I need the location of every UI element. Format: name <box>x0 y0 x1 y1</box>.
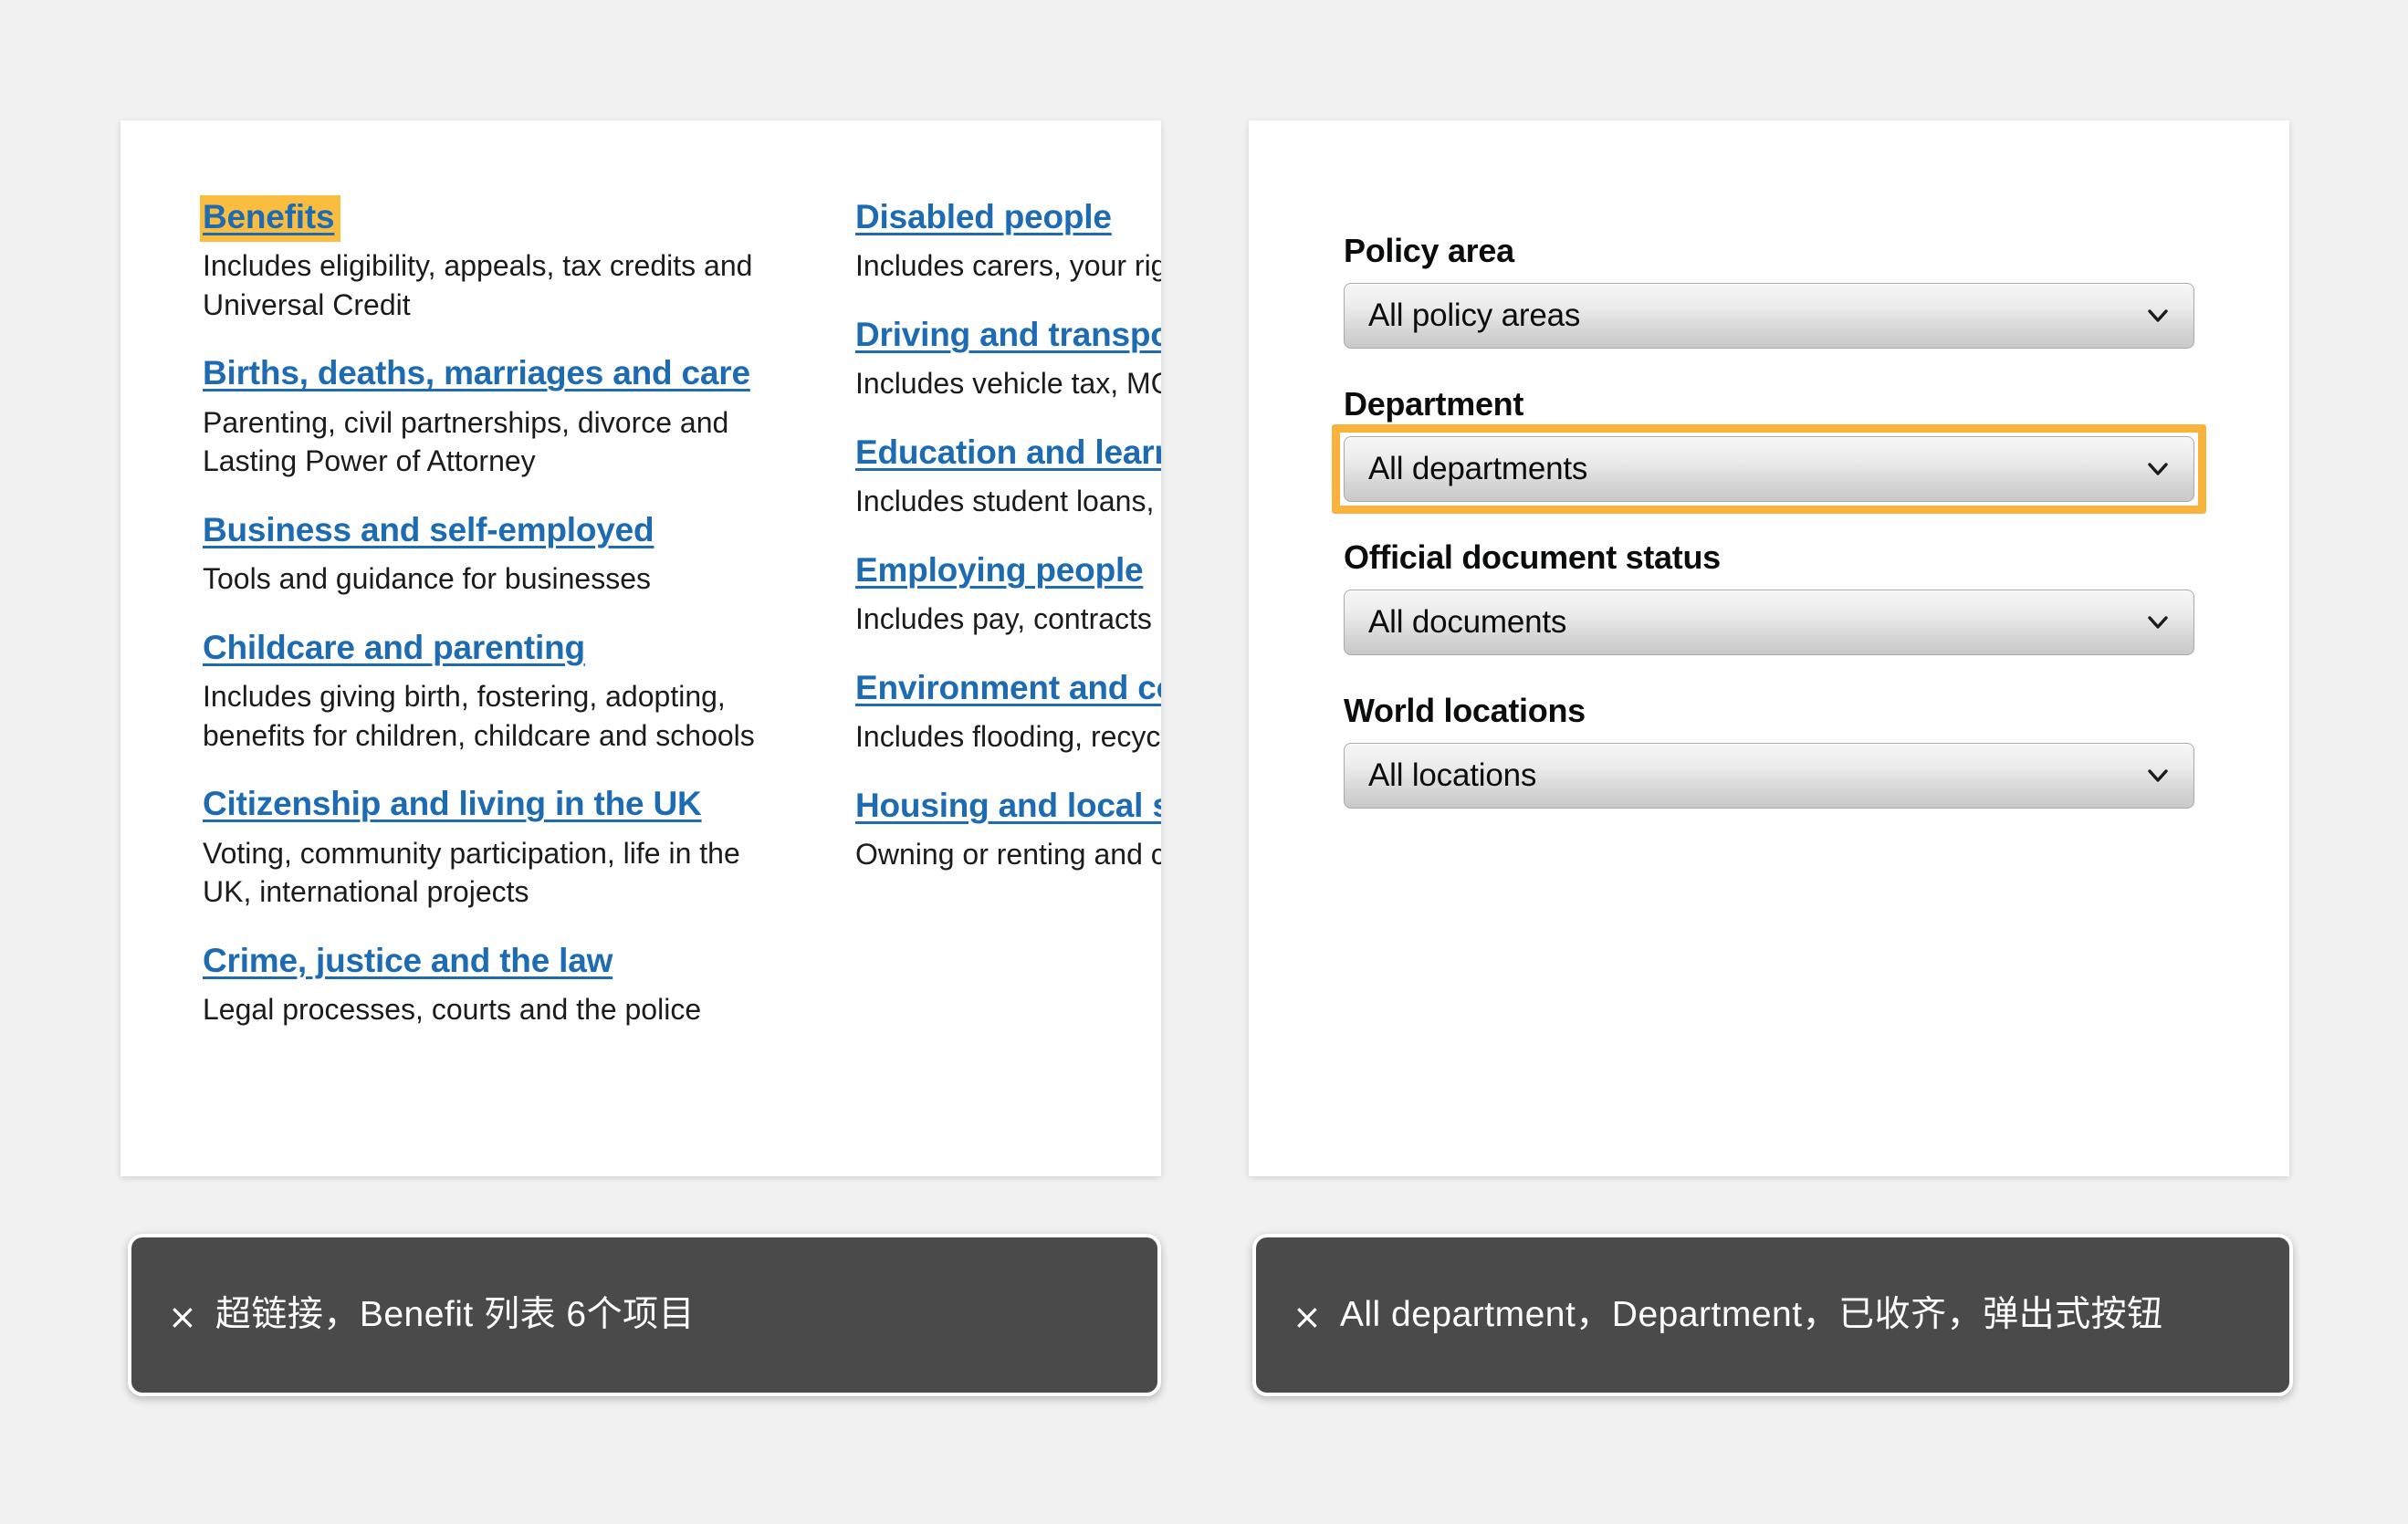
filter-label-world-locations: World locations <box>1344 692 2194 730</box>
select-policy-area[interactable]: All policy areas <box>1344 283 2194 349</box>
topic-column-right: Disabled people Includes carers, your ri… <box>855 195 1161 1029</box>
select-wrap-department: All departments <box>1344 436 2194 502</box>
topic-item: Business and self-employed Tools and gui… <box>203 508 855 599</box>
toast-message: 超链接，Benefit 列表 6个项目 <box>215 1290 695 1340</box>
topic-grid: Benefits Includes eligibility, appeals, … <box>203 195 1161 1029</box>
select-official-document-status[interactable]: All documents <box>1344 590 2194 655</box>
browse-topics-card: Benefits Includes eligibility, appeals, … <box>120 120 1161 1176</box>
topic-description: Tools and guidance for businesses <box>203 559 787 599</box>
topic-item: Benefits Includes eligibility, appeals, … <box>203 195 855 324</box>
filter-label-official-document-status: Official document status <box>1344 538 2194 577</box>
topic-link-disabled-people[interactable]: Disabled people <box>855 198 1112 235</box>
chevron-down-icon <box>2144 455 2172 483</box>
topic-link-housing-and-local-services[interactable]: Housing and local services <box>855 787 1161 824</box>
close-icon[interactable]: × <box>1293 1300 1322 1334</box>
topic-link-business-and-self-employed[interactable]: Business and self-employed <box>203 511 654 548</box>
topic-link-childcare-and-parenting[interactable]: Childcare and parenting <box>203 629 585 666</box>
filter-group-official-document-status: Official document status All documents <box>1344 538 2194 655</box>
topic-description: Voting, community participation, life in… <box>203 834 787 912</box>
topic-description: Includes pay, contracts and hiring <box>855 600 1161 639</box>
topic-item: Employing people Includes pay, contracts… <box>855 548 1161 639</box>
select-value-world-locations: All locations <box>1368 757 2144 794</box>
select-wrap-official-document-status: All documents <box>1344 590 2194 655</box>
chevron-down-icon <box>2144 302 2172 329</box>
topic-item: Environment and countryside Includes flo… <box>855 666 1161 757</box>
close-icon[interactable]: × <box>168 1300 197 1334</box>
topic-description: Includes flooding, recycling and wildlif… <box>855 717 1161 757</box>
topic-link-citizenship-and-living-in-the-uk[interactable]: Citizenship and living in the UK <box>203 785 702 822</box>
browse-topics-inner: Benefits Includes eligibility, appeals, … <box>203 195 1161 1029</box>
topic-description: Includes giving birth, fostering, adopti… <box>203 677 787 755</box>
topic-link-births-deaths-marriages-and-care[interactable]: Births, deaths, marriages and care <box>203 354 750 391</box>
chevron-down-icon <box>2144 609 2172 636</box>
topic-link-driving-and-transport[interactable]: Driving and transport <box>855 316 1161 353</box>
filters-card: Policy area All policy areas Department … <box>1249 120 2289 1176</box>
select-world-locations[interactable]: All locations <box>1344 743 2194 809</box>
topic-description: Parenting, civil partnerships, divorce a… <box>203 403 787 481</box>
filter-label-department: Department <box>1344 385 2194 423</box>
topic-item: Housing and local services Owning or ren… <box>855 784 1161 874</box>
topic-description: Legal processes, courts and the police <box>203 990 787 1029</box>
select-wrap-world-locations: All locations <box>1344 743 2194 809</box>
select-wrap-policy-area: All policy areas <box>1344 283 2194 349</box>
topic-link-benefits[interactable]: Benefits <box>200 195 340 242</box>
accessibility-toast-right: × All department，Department，已收齐，弹出式按钮 <box>1252 1234 2293 1396</box>
select-value-official-document-status: All documents <box>1368 604 2144 641</box>
topic-item: Driving and transport Includes vehicle t… <box>855 313 1161 403</box>
topic-description: Includes vehicle tax, MOT and driving li… <box>855 364 1161 403</box>
topic-description: Includes student loans, admissions and a… <box>855 482 1161 521</box>
select-department[interactable]: All departments <box>1344 436 2194 502</box>
chevron-down-icon <box>2144 762 2172 789</box>
select-value-policy-area: All policy areas <box>1368 297 2144 334</box>
topic-item: Citizenship and living in the UK Voting,… <box>203 782 855 911</box>
filter-group-policy-area: Policy area All policy areas <box>1344 232 2194 349</box>
topic-column-left: Benefits Includes eligibility, appeals, … <box>203 195 855 1029</box>
accessibility-toast-left: × 超链接，Benefit 列表 6个项目 <box>128 1234 1161 1396</box>
topic-item: Education and learning Includes student … <box>855 431 1161 521</box>
topic-link-employing-people[interactable]: Employing people <box>855 551 1143 589</box>
topic-description: Includes carers, your rights, benefits a… <box>855 246 1161 286</box>
filters-inner: Policy area All policy areas Department … <box>1344 232 2194 809</box>
topic-item: Crime, justice and the law Legal process… <box>203 939 855 1029</box>
toast-message: All department，Department，已收齐，弹出式按钮 <box>1340 1290 2163 1340</box>
topic-link-education-and-learning[interactable]: Education and learning <box>855 433 1161 471</box>
filter-group-department: Department All departments <box>1344 385 2194 502</box>
select-value-department: All departments <box>1368 451 2144 487</box>
topic-item: Births, deaths, marriages and care Paren… <box>203 351 855 480</box>
topic-item: Disabled people Includes carers, your ri… <box>855 195 1161 286</box>
topic-link-crime-justice-and-the-law[interactable]: Crime, justice and the law <box>203 942 612 979</box>
filter-label-policy-area: Policy area <box>1344 232 2194 270</box>
topic-description: Includes eligibility, appeals, tax credi… <box>203 246 787 324</box>
topic-description: Owning or renting and council services <box>855 835 1161 874</box>
topic-link-environment-and-countryside[interactable]: Environment and countryside <box>855 669 1161 706</box>
topic-item: Childcare and parenting Includes giving … <box>203 626 855 755</box>
filter-group-world-locations: World locations All locations <box>1344 692 2194 809</box>
